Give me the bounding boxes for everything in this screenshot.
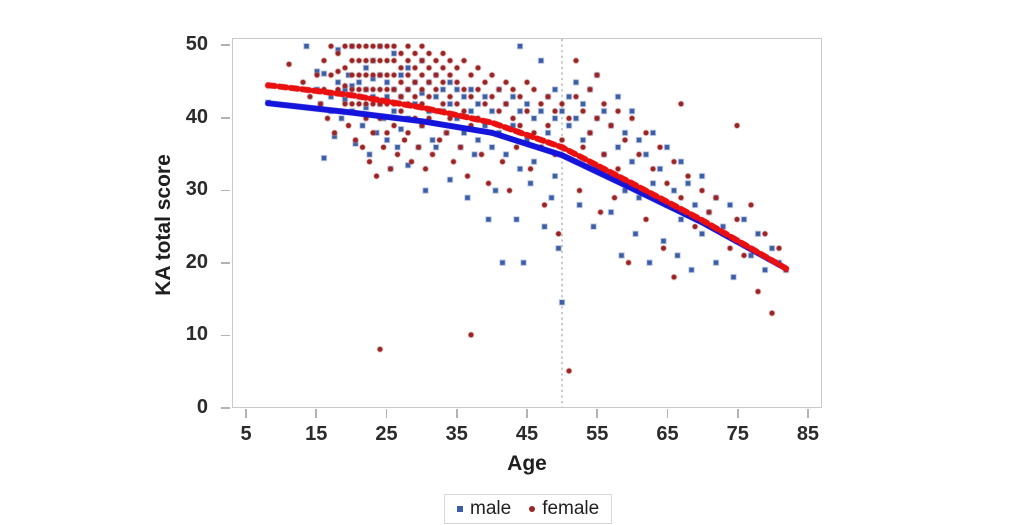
y-tick-label: 40 <box>166 107 208 127</box>
legend-marker-female-icon <box>529 506 535 512</box>
y-tick-label: 10 <box>166 324 208 344</box>
scatter-plot-canvas <box>233 39 821 407</box>
y-tick-mark <box>221 190 230 192</box>
x-tick-label: 75 <box>708 424 768 444</box>
x-tick-mark <box>245 409 247 418</box>
chart-legend: male female <box>444 494 612 524</box>
y-tick-mark <box>221 44 230 46</box>
x-tick-mark <box>667 409 669 418</box>
y-tick-label: 30 <box>166 179 208 199</box>
y-tick-mark <box>221 117 230 119</box>
x-tick-label: 55 <box>567 424 627 444</box>
x-tick-mark <box>526 409 528 418</box>
x-tick-mark <box>596 409 598 418</box>
x-tick-label: 35 <box>427 424 487 444</box>
x-tick-mark <box>315 409 317 418</box>
x-tick-label: 65 <box>637 424 697 444</box>
y-tick-mark <box>221 407 230 409</box>
y-axis-title: KA total score <box>150 105 178 345</box>
y-tick-mark <box>221 335 230 337</box>
x-tick-mark <box>386 409 388 418</box>
x-tick-label: 25 <box>357 424 417 444</box>
x-tick-label: 5 <box>216 424 276 444</box>
legend-item-female: female <box>529 499 599 518</box>
x-tick-mark <box>807 409 809 418</box>
legend-label-male: male <box>470 499 511 518</box>
legend-marker-male-icon <box>457 506 463 512</box>
y-tick-mark <box>221 262 230 264</box>
chart-figure: KA total score 01020304050 5152535455565… <box>0 0 1024 525</box>
x-tick-mark <box>737 409 739 418</box>
y-tick-label: 50 <box>166 34 208 54</box>
x-tick-label: 85 <box>778 424 838 444</box>
x-tick-label: 15 <box>286 424 346 444</box>
y-axis-title-text: KA total score <box>152 154 176 296</box>
plot-area <box>232 38 822 408</box>
y-tick-label: 20 <box>166 252 208 272</box>
legend-label-female: female <box>542 499 599 518</box>
legend-item-male: male <box>457 499 511 518</box>
x-tick-mark <box>456 409 458 418</box>
x-axis-title: Age <box>232 452 822 476</box>
y-tick-label: 0 <box>166 397 208 417</box>
x-tick-label: 45 <box>497 424 557 444</box>
